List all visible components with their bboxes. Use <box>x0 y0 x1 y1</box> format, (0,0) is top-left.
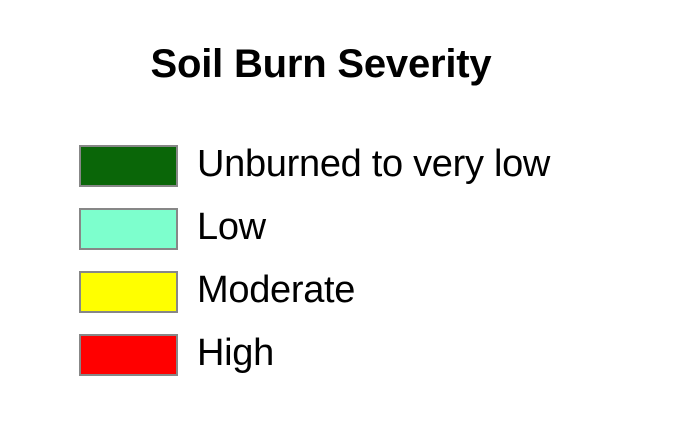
legend-title: Soil Burn Severity <box>0 41 642 87</box>
color-swatch-yellow <box>79 271 178 313</box>
legend-item-low: Low <box>79 208 679 271</box>
color-swatch-red <box>79 334 178 376</box>
soil-burn-severity-legend: Soil Burn Severity Unburned to very low … <box>0 0 695 442</box>
legend-item-label: High <box>197 330 274 376</box>
legend-item-label: Moderate <box>197 267 355 313</box>
legend-item-moderate: Moderate <box>79 271 679 334</box>
legend-item-unburned-to-very-low: Unburned to very low <box>79 145 679 208</box>
legend-item-list: Unburned to very low Low Moderate High <box>79 145 679 397</box>
color-swatch-aquamarine <box>79 208 178 250</box>
color-swatch-dark-green <box>79 145 178 187</box>
legend-item-label: Low <box>197 204 266 250</box>
legend-item-label: Unburned to very low <box>197 141 550 187</box>
legend-item-high: High <box>79 334 679 397</box>
